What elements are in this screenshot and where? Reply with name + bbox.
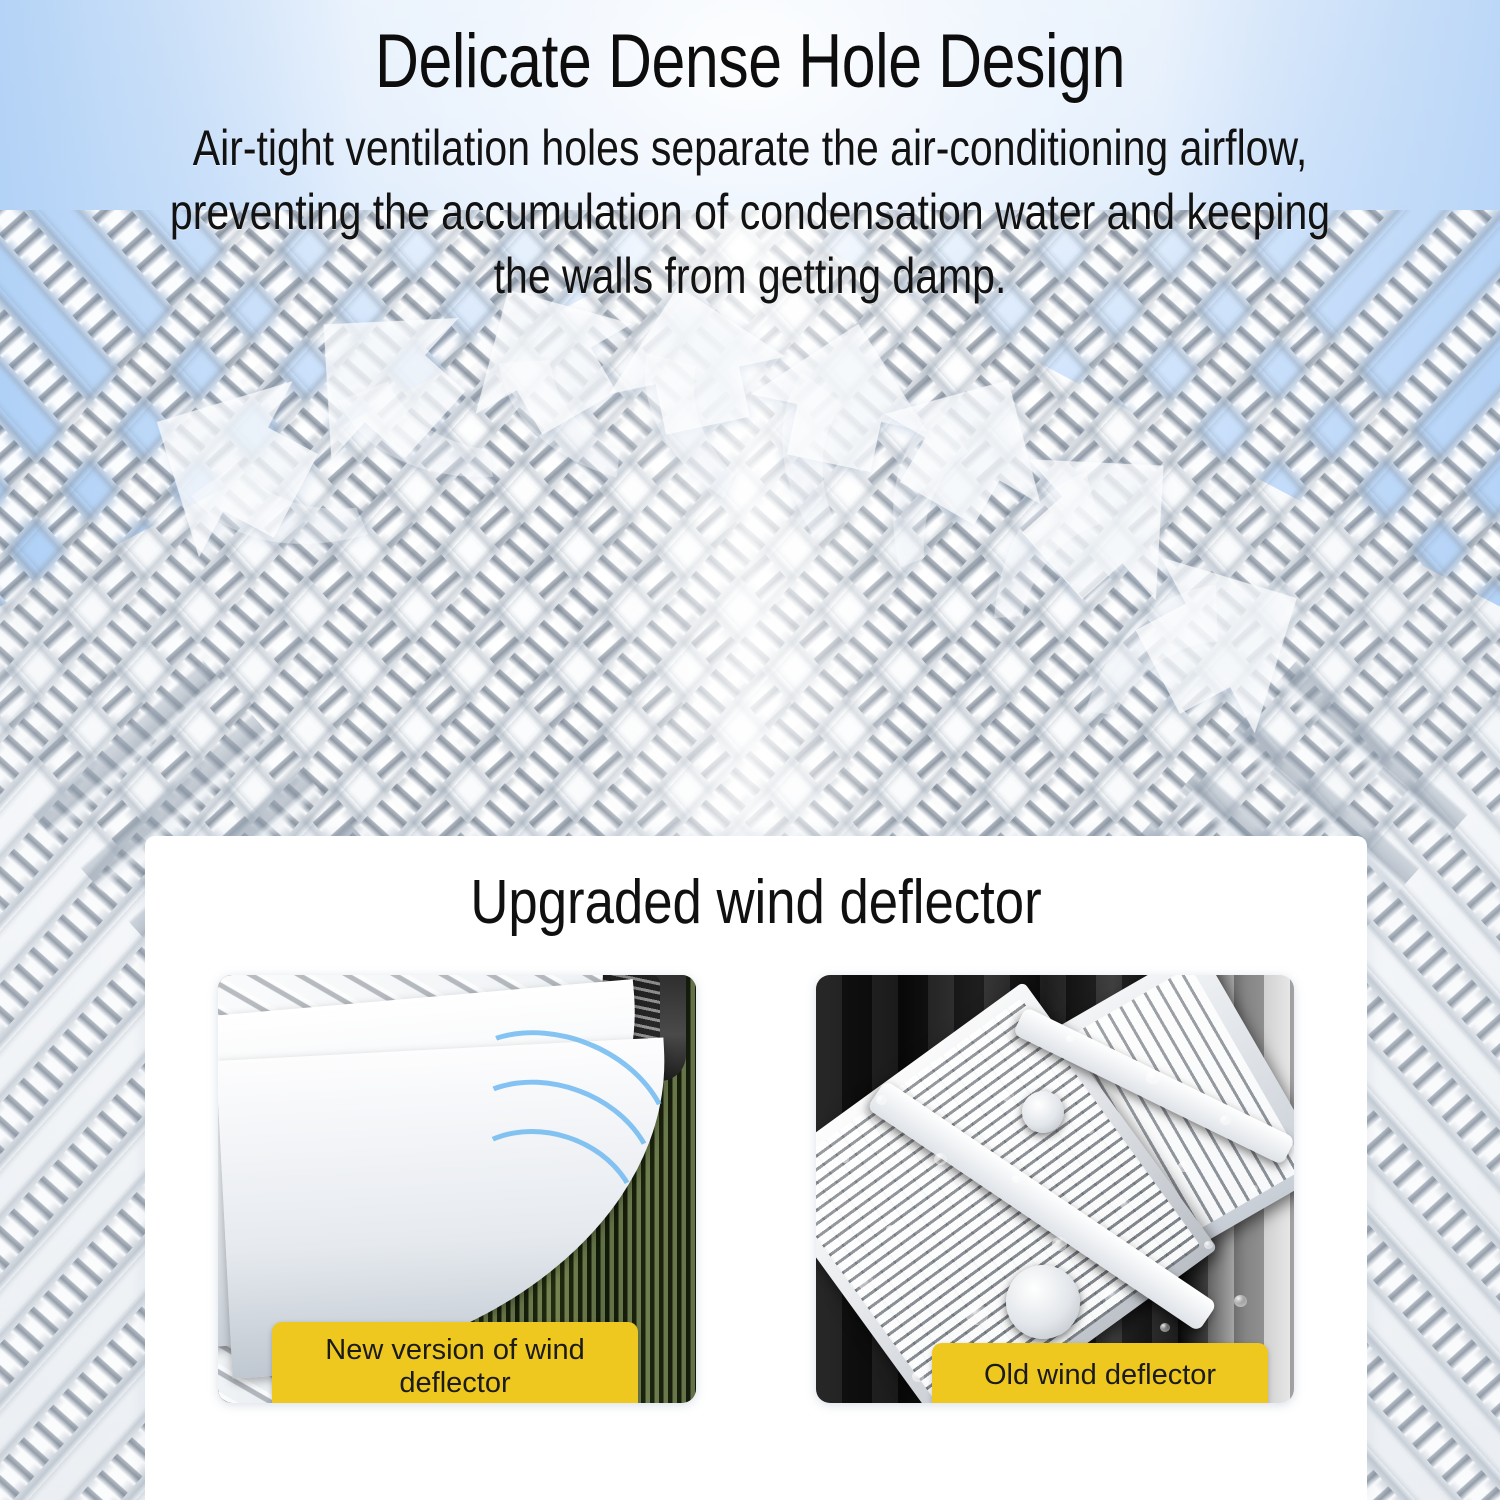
- new-deflector-caption: New version of wind deflector: [272, 1322, 638, 1403]
- page-title: Delicate Dense Hole Design: [150, 24, 1350, 100]
- water-droplet: [1178, 1161, 1190, 1172]
- header-block: Delicate Dense Hole Design Air-tight ven…: [0, 24, 1500, 308]
- water-droplet: [1120, 1199, 1131, 1209]
- water-droplet: [966, 1305, 988, 1325]
- water-droplet: [1250, 1185, 1258, 1192]
- water-droplet: [1066, 1035, 1074, 1042]
- old-wind-deflector-photo[interactable]: Old wind deflector: [816, 975, 1294, 1403]
- page-subtitle: Air-tight ventilation holes separate the…: [164, 116, 1337, 308]
- water-droplet: [1204, 1241, 1213, 1249]
- water-droplet: [1052, 1237, 1067, 1251]
- old-deflector-pivot-lower: [1006, 1265, 1080, 1339]
- water-droplet: [1146, 1071, 1160, 1084]
- water-droplet: [1220, 1115, 1231, 1125]
- water-droplet: [1084, 1125, 1094, 1134]
- comparison-photo-row: New version of wind deflector Old wind d…: [218, 975, 1294, 1403]
- water-droplet: [1104, 1287, 1122, 1304]
- water-droplet: [858, 1275, 874, 1290]
- card-title: Upgraded wind deflector: [237, 836, 1276, 934]
- old-deflector-pivot-upper: [1022, 1091, 1064, 1133]
- new-wind-deflector-photo[interactable]: New version of wind deflector: [218, 975, 696, 1403]
- water-droplet: [1012, 1175, 1021, 1183]
- water-droplet: [1160, 1323, 1170, 1332]
- product-infographic: Delicate Dense Hole Design Air-tight ven…: [0, 0, 1500, 1500]
- water-droplet: [934, 1153, 947, 1165]
- upgraded-deflector-card: Upgraded wind deflector New version of w…: [145, 836, 1367, 1500]
- old-deflector-caption: Old wind deflector: [932, 1343, 1268, 1403]
- water-droplet: [886, 1225, 896, 1234]
- water-droplet: [912, 1371, 924, 1382]
- water-droplet: [840, 1155, 849, 1163]
- water-droplet: [1234, 1295, 1247, 1307]
- water-droplet: [876, 1095, 887, 1105]
- water-droplet: [1002, 1091, 1014, 1102]
